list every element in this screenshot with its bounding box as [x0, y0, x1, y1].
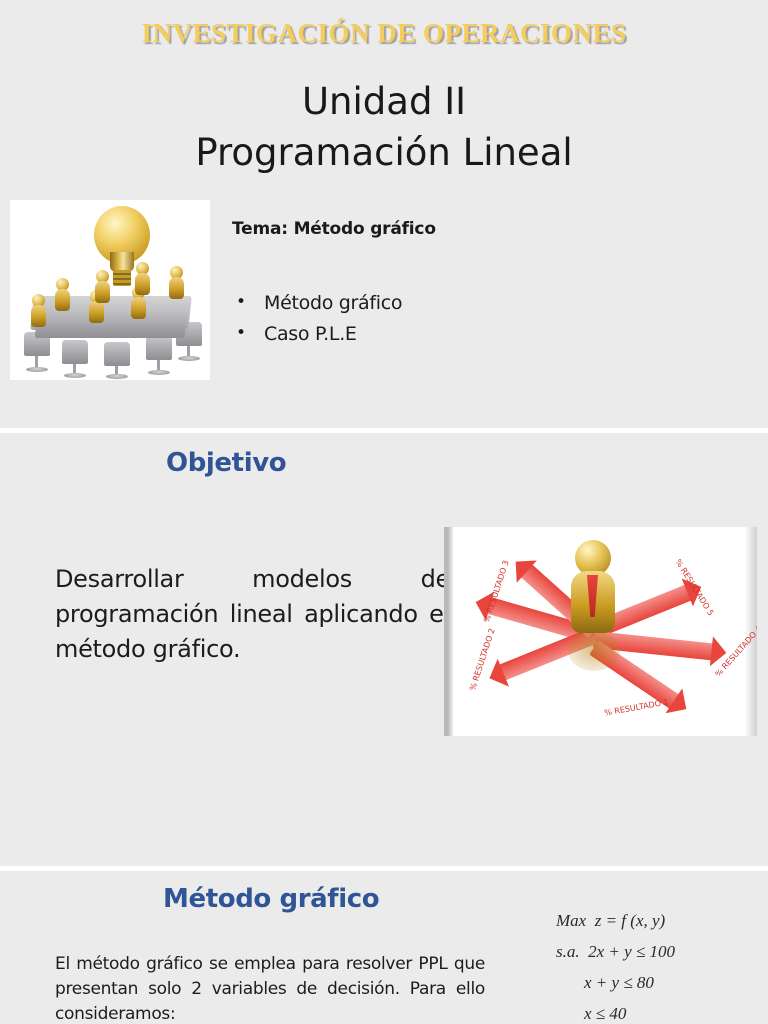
formula-constraint-1-expression: 2x + y ≤ 100: [588, 942, 675, 961]
formula-line-constraint-3: x ≤ 40: [556, 998, 675, 1024]
figure-body: [131, 297, 146, 319]
figure-shadow: [568, 631, 620, 671]
chair-base: [26, 367, 48, 372]
figure-body: [55, 289, 70, 311]
metodo-grafico-heading: Método gráfico: [163, 884, 379, 914]
metodo-grafico-body-text: El método gráfico se emplea para resolve…: [55, 952, 485, 1024]
formula-max-label: Max: [556, 911, 586, 930]
red-arrows-results-image: % RESULTADO 1 % RESULTADO 2 % RESULTADO …: [444, 527, 757, 736]
objetivo-body-text: Desarrollar modelos de programación line…: [55, 562, 450, 667]
course-banner: INVESTIGACIÓN DE OPERACIONES: [0, 18, 768, 49]
title-line-1: Unidad II: [302, 80, 466, 123]
chair-base: [64, 373, 86, 378]
figure-body: [89, 301, 104, 323]
tema-heading: Tema: Método gráfico: [232, 219, 436, 239]
slide-title-section: INVESTIGACIÓN DE OPERACIONES Unidad II P…: [0, 0, 768, 428]
formula-constraint-2-expression: x + y ≤ 80: [584, 973, 654, 992]
list-item: Método gráfico: [232, 288, 402, 319]
conference-table-front: [35, 312, 188, 338]
arrow-label-1: % RESULTADO 1: [604, 697, 669, 717]
linear-program-formula: Max z = f (x, y) s.a. 2x + y ≤ 100 x + y…: [556, 905, 675, 1024]
formula-line-objective: Max z = f (x, y): [556, 905, 675, 936]
lightbulb-meeting-image: [10, 200, 210, 380]
figure-body: [135, 273, 150, 295]
figure-body: [95, 281, 110, 303]
title-line-2: Programación Lineal: [195, 131, 572, 174]
figure-body: [31, 305, 46, 327]
chair-base: [178, 356, 200, 361]
figure-body: [169, 277, 184, 299]
formula-line-constraint-1: s.a. 2x + y ≤ 100: [556, 936, 675, 967]
topic-bullet-list: Método gráfico Caso P.L.E: [232, 288, 402, 350]
chair: [62, 340, 88, 364]
formula-constraint-3-expression: x ≤ 40: [584, 1004, 626, 1023]
objetivo-heading: Objetivo: [166, 448, 286, 478]
chair: [146, 336, 172, 360]
chair-base: [106, 374, 128, 379]
formula-objective-expression: z = f (x, y): [595, 911, 665, 930]
page-title: Unidad II Programación Lineal: [0, 76, 768, 178]
formula-line-constraint-2: x + y ≤ 80: [556, 967, 675, 998]
slide-deck-page: INVESTIGACIÓN DE OPERACIONES Unidad II P…: [0, 0, 768, 1024]
chair-base: [148, 370, 170, 375]
list-item: Caso P.L.E: [232, 319, 402, 350]
lightbulb-base: [113, 270, 131, 286]
chair: [104, 342, 130, 366]
formula-sa-label: s.a.: [556, 942, 580, 961]
lightbulb-neck: [110, 252, 134, 272]
